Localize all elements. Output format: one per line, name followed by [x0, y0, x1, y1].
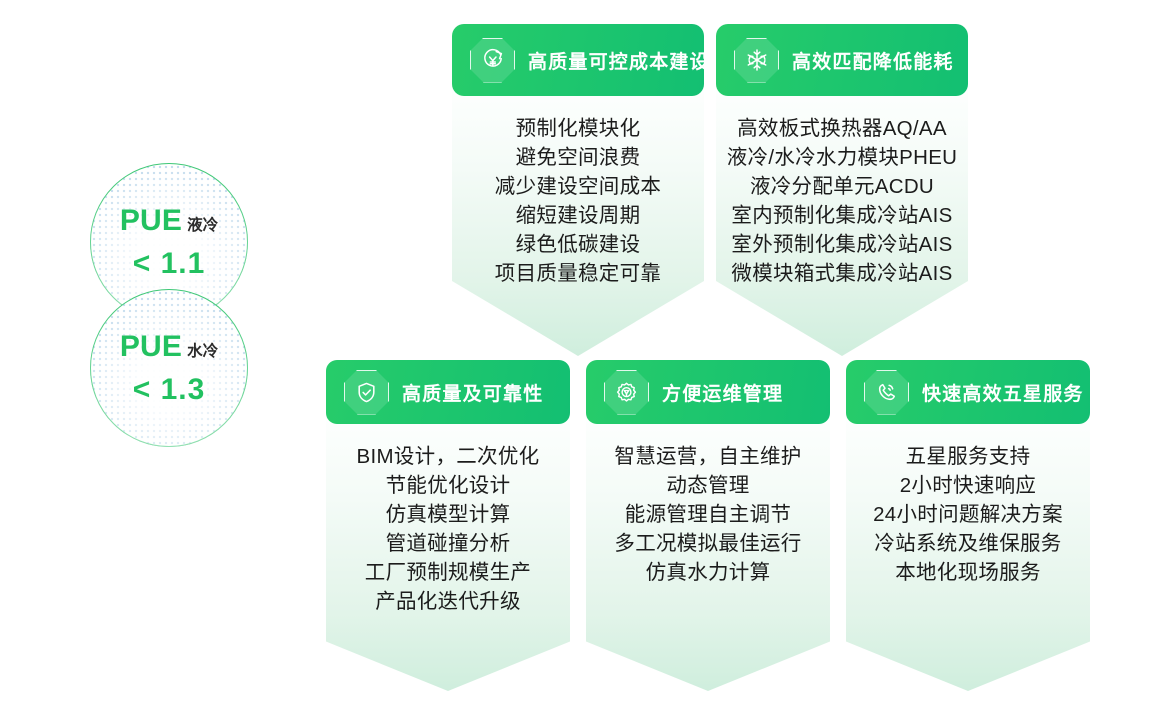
pue-label: PUE [120, 204, 182, 237]
list-item: 工厂预制规模生产 [326, 558, 570, 587]
pue-value: < 1.1 [120, 249, 218, 279]
infographic-canvas: PUE液冷 < 1.1 PUE水冷 < 1.3 [0, 0, 1170, 704]
list-item: 五星服务支持 [846, 442, 1090, 471]
panel-service-title: 快速高效五星服务 [922, 379, 1084, 406]
pue-sublabel: 液冷 [187, 217, 218, 234]
panel-service-list: 五星服务支持 2小时快速响应 24小时问题解决方案 冷站系统及维保服务 本地化现… [846, 442, 1090, 587]
list-item: 智慧运营，自主维护 [586, 442, 830, 471]
panel-service-body: 五星服务支持 2小时快速响应 24小时问题解决方案 冷站系统及维保服务 本地化现… [846, 416, 1090, 691]
panel-quality-header[interactable]: 高质量及可靠性 [326, 360, 570, 424]
panel-energy-list: 高效板式换热器AQ/AA 液冷/水冷水力模块PHEU 液冷分配单元ACDU 室内… [716, 114, 968, 288]
list-item: 避免空间浪费 [452, 143, 704, 172]
list-item: 仿真水力计算 [586, 558, 830, 587]
panel-ops-body: 智慧运营，自主维护 动态管理 能源管理自主调节 多工况模拟最佳运行 仿真水力计算 [586, 416, 830, 691]
panel-service: 快速高效五星服务 五星服务支持 2小时快速响应 24小时问题解决方案 冷站系统及… [846, 360, 1090, 691]
list-item: 液冷/水冷水力模块PHEU [716, 143, 968, 172]
pue-metrics-group: PUE液冷 < 1.1 PUE水冷 < 1.3 [83, 163, 263, 453]
list-item: 多工况模拟最佳运行 [586, 529, 830, 558]
panel-cost: 高质量可控成本建设 预制化模块化 避免空间浪费 减少建设空间成本 缩短建设周期 … [452, 24, 704, 356]
list-item: 液冷分配单元ACDU [716, 172, 968, 201]
list-item: 绿色低碳建设 [452, 230, 704, 259]
pue-value: < 1.3 [120, 375, 218, 405]
list-item: 减少建设空间成本 [452, 172, 704, 201]
pue-circle-water-cooling: PUE水冷 < 1.3 [90, 289, 248, 447]
panel-ops-header[interactable]: 方便运维管理 [586, 360, 830, 424]
list-item: 2小时快速响应 [846, 471, 1090, 500]
list-item: 产品化迭代升级 [326, 587, 570, 616]
phone-call-icon [864, 370, 909, 415]
list-item: 动态管理 [586, 471, 830, 500]
pue-sublabel: 水冷 [187, 343, 218, 360]
gear-settings-icon [604, 370, 649, 415]
panel-quality-title: 高质量及可靠性 [402, 379, 543, 406]
list-item: 冷站系统及维保服务 [846, 529, 1090, 558]
list-item: BIM设计，二次优化 [326, 442, 570, 471]
panel-energy: 高效匹配降低能耗 高效板式换热器AQ/AA 液冷/水冷水力模块PHEU 液冷分配… [716, 24, 968, 356]
list-item: 微模块箱式集成冷站AIS [716, 259, 968, 288]
panel-energy-body: 高效板式换热器AQ/AA 液冷/水冷水力模块PHEU 液冷分配单元ACDU 室内… [716, 88, 968, 356]
list-item: 仿真模型计算 [326, 500, 570, 529]
panel-quality: 高质量及可靠性 BIM设计，二次优化 节能优化设计 仿真模型计算 管道碰撞分析 … [326, 360, 570, 691]
yuan-cost-icon [470, 38, 515, 83]
pue-label-row: PUE液冷 [120, 206, 218, 236]
panel-cost-list: 预制化模块化 避免空间浪费 减少建设空间成本 缩短建设周期 绿色低碳建设 项目质… [452, 114, 704, 288]
list-item: 缩短建设周期 [452, 201, 704, 230]
list-item: 24小时问题解决方案 [846, 500, 1090, 529]
panel-quality-list: BIM设计，二次优化 节能优化设计 仿真模型计算 管道碰撞分析 工厂预制规模生产… [326, 442, 570, 616]
panel-cost-header[interactable]: 高质量可控成本建设 [452, 24, 704, 96]
panel-cost-title: 高质量可控成本建设 [528, 47, 710, 74]
shield-check-icon [344, 370, 389, 415]
panel-service-header[interactable]: 快速高效五星服务 [846, 360, 1090, 424]
panel-ops-list: 智慧运营，自主维护 动态管理 能源管理自主调节 多工况模拟最佳运行 仿真水力计算 [586, 442, 830, 587]
list-item: 项目质量稳定可靠 [452, 259, 704, 288]
list-item: 管道碰撞分析 [326, 529, 570, 558]
panel-cost-body: 预制化模块化 避免空间浪费 减少建设空间成本 缩短建设周期 绿色低碳建设 项目质… [452, 88, 704, 356]
panel-energy-title: 高效匹配降低能耗 [792, 47, 954, 74]
snowflake-icon [734, 38, 779, 83]
list-item: 能源管理自主调节 [586, 500, 830, 529]
panel-ops-title: 方便运维管理 [662, 379, 783, 406]
list-item: 高效板式换热器AQ/AA [716, 114, 968, 143]
list-item: 本地化现场服务 [846, 558, 1090, 587]
list-item: 预制化模块化 [452, 114, 704, 143]
panel-energy-header[interactable]: 高效匹配降低能耗 [716, 24, 968, 96]
panel-ops: 方便运维管理 智慧运营，自主维护 动态管理 能源管理自主调节 多工况模拟最佳运行… [586, 360, 830, 691]
panel-quality-body: BIM设计，二次优化 节能优化设计 仿真模型计算 管道碰撞分析 工厂预制规模生产… [326, 416, 570, 691]
list-item: 室内预制化集成冷站AIS [716, 201, 968, 230]
list-item: 室外预制化集成冷站AIS [716, 230, 968, 259]
list-item: 节能优化设计 [326, 471, 570, 500]
pue-label-row: PUE水冷 [120, 332, 218, 362]
pue-label: PUE [120, 330, 182, 363]
